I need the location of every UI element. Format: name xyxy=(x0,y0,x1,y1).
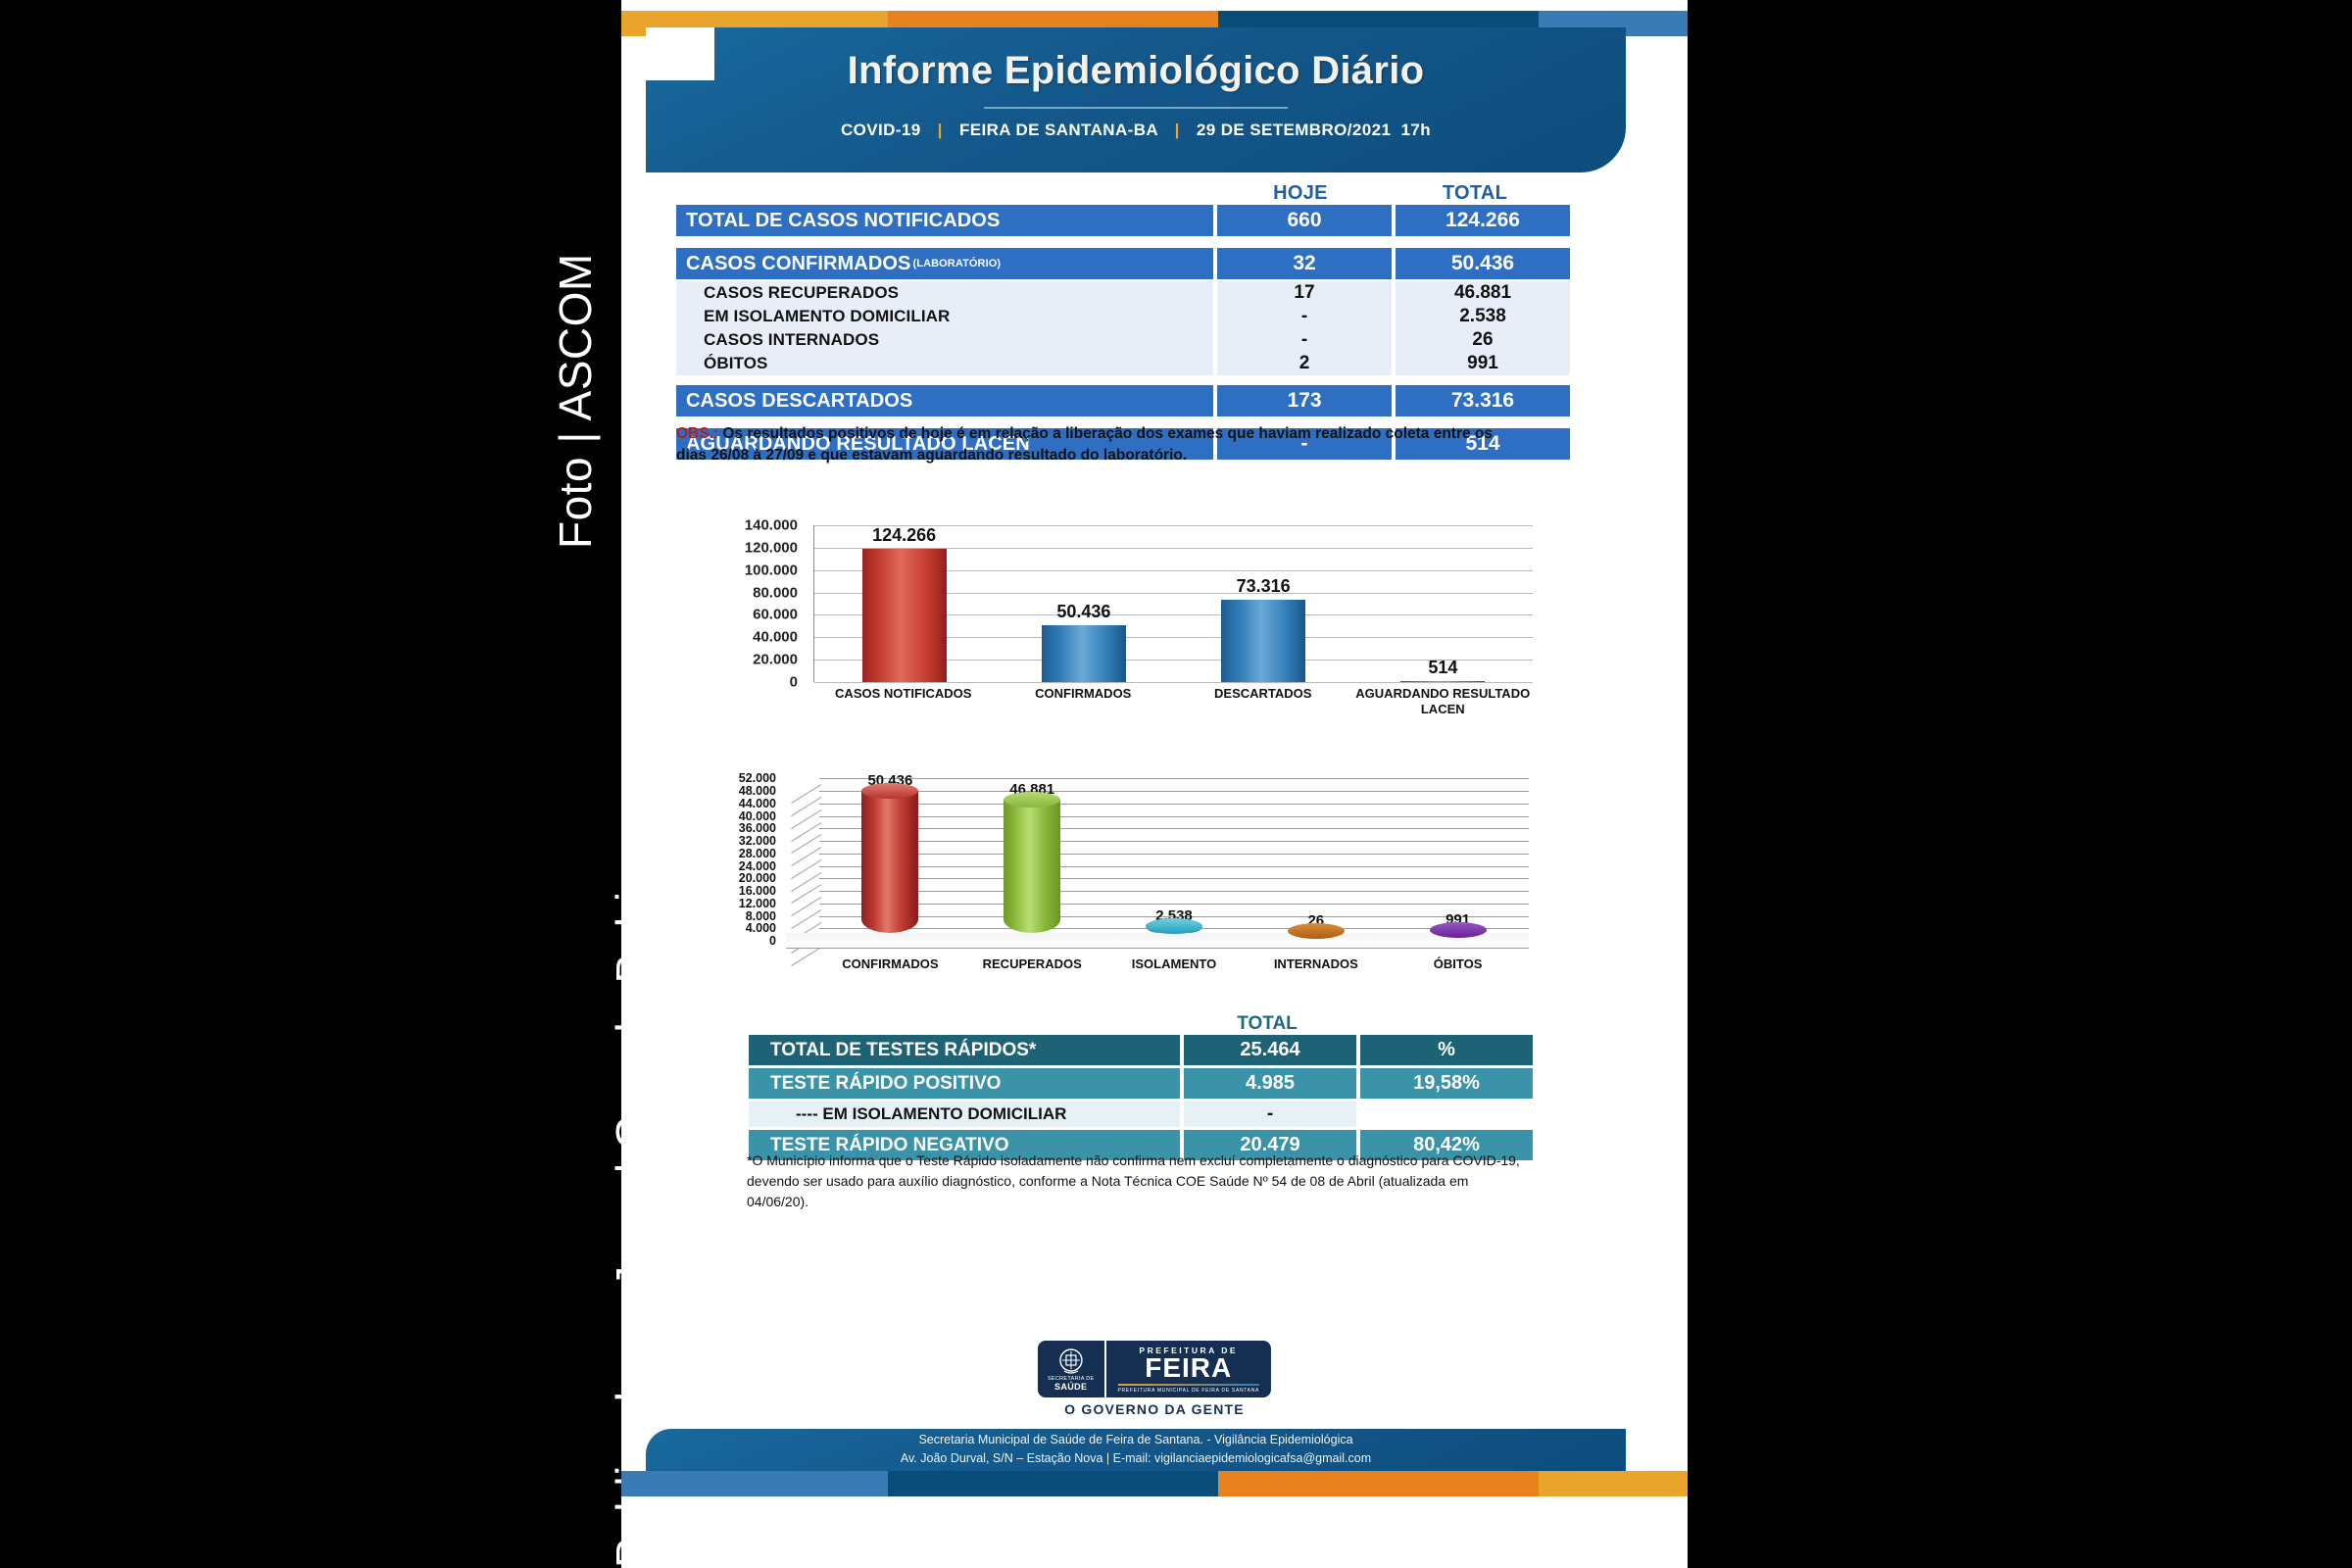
header-time: 17h xyxy=(1401,121,1432,139)
chart1-bar-column: 73.316 xyxy=(1174,525,1353,682)
chart2-y-tick: 0 xyxy=(769,934,776,948)
chart2-bar-column: 26 xyxy=(1245,772,1387,933)
report-header: Informe Epidemiológico Diário COVID-19 |… xyxy=(646,27,1626,172)
chart1-bars: 124.26650.43673.316514 xyxy=(814,525,1533,682)
chart2-bars: 50.43646.8812.53826991 xyxy=(819,772,1529,933)
chart2-y-tick: 52.000 xyxy=(739,771,776,785)
report-page: Informe Epidemiológico Diário COVID-19 |… xyxy=(621,0,1688,1568)
chart2-category-label: ISOLAMENTO xyxy=(1103,956,1246,971)
band-segment xyxy=(888,1471,1218,1496)
cylinder-body xyxy=(1004,800,1060,933)
cityhall-sub-label: PREFEITURA MUNICIPAL DE FEIRA DE SANTANA xyxy=(1117,1384,1259,1394)
chart1-y-tick: 80.000 xyxy=(753,584,798,601)
cylinder-cap xyxy=(861,783,918,799)
row-value-hoje: - xyxy=(1217,328,1392,352)
chart2-y-tick: 48.000 xyxy=(739,784,776,798)
chart2-y-tick: 36.000 xyxy=(739,821,776,835)
chart1-bar xyxy=(1221,600,1305,682)
row-value-hoje: - xyxy=(1217,305,1392,328)
secretariat-big-label: SAÚDE xyxy=(1054,1382,1088,1392)
chart2-bar-column: 46.881 xyxy=(961,772,1103,933)
chart2-plot-area: 50.43646.8812.53826991 xyxy=(786,772,1529,949)
chart1-y-tick: 20.000 xyxy=(753,652,798,668)
city-hall-logo: PREFEITURA DE FEIRA PREFEITURA MUNICIPAL… xyxy=(1105,1341,1271,1397)
chart2-cylinder xyxy=(1146,926,1202,933)
col-header-hoje: HOJE xyxy=(1213,182,1388,205)
row-value-total: 2.538 xyxy=(1396,305,1570,328)
band-segment xyxy=(621,1471,888,1496)
government-logo: SECRETARIA DE SAÚDE PREFEITURA DE FEIRA … xyxy=(1038,1341,1271,1417)
chart2-y-tick: 20.000 xyxy=(739,871,776,885)
row-value-total: 991 xyxy=(1396,352,1570,375)
logo-slogan: O GOVERNO DA GENTE xyxy=(1038,1401,1271,1417)
header-sep-2: | xyxy=(1175,121,1180,139)
chart2-y-tick: 40.000 xyxy=(739,809,776,823)
chart1-bar-column: 124.266 xyxy=(814,525,994,682)
row-value-total: 50.436 xyxy=(1396,248,1570,279)
chart2-y-tick: 8.000 xyxy=(746,909,776,923)
cylinder-cap xyxy=(1146,918,1202,934)
chart2-cylinder xyxy=(1430,930,1487,933)
row-value-total: 46.881 xyxy=(1396,281,1570,305)
chart2-category-label: INTERNADOS xyxy=(1245,956,1387,971)
row-label: CASOS CONFIRMADOS(LABORATÓRIO) xyxy=(676,248,1213,279)
cylinder-cap xyxy=(1430,922,1487,938)
main-summary-table: HOJE TOTAL TOTAL DE CASOS NOTIFICADOS660… xyxy=(676,179,1595,462)
chart1-y-axis: 020.00040.00060.00080.000100.000120.0001… xyxy=(696,525,806,682)
cylinder-cap xyxy=(1288,923,1345,939)
cylinder-body xyxy=(861,791,918,933)
chart1-category-label: DESCARTADOS xyxy=(1173,686,1353,718)
bottom-color-band xyxy=(621,1471,1688,1496)
page-title: Informe Epidemiológico Diário xyxy=(646,49,1626,93)
header-city: FEIRA DE SANTANA-BA xyxy=(959,121,1157,139)
rapid-test-label: ---- EM ISOLAMENTO DOMICILIAR xyxy=(749,1102,1180,1127)
cylinder-cap xyxy=(1004,792,1060,808)
chart1-category-label: CASOS NOTIFICADOS xyxy=(813,686,994,718)
rapid-tests-table: TOTAL TOTAL DE TESTES RÁPIDOS*25.464%TES… xyxy=(749,1009,1533,1163)
photo-credit-band: Foto | ASCOM Publicado no Jornal Grande … xyxy=(0,0,621,1568)
table-row: CASOS DESCARTADOS17373.316 xyxy=(676,385,1595,416)
chart2-y-tick: 44.000 xyxy=(739,797,776,810)
chart1-y-tick: 120.000 xyxy=(745,539,798,556)
credit-line-photo: Foto | ASCOM xyxy=(549,253,602,549)
chart2-x-labels: CONFIRMADOSRECUPERADOSISOLAMENTOINTERNAD… xyxy=(819,956,1529,971)
chart2-y-tick: 32.000 xyxy=(739,834,776,848)
observation-text: Os resultados positivos de hoje é em rel… xyxy=(676,425,1493,464)
row-label: CASOS DESCARTADOS xyxy=(676,385,1213,416)
chart1-category-label: AGUARDANDO RESULTADO LACEN xyxy=(1353,686,1534,718)
row-label: EM ISOLAMENTO DOMICILIAR xyxy=(676,305,1213,328)
chart1-category-label: CONFIRMADOS xyxy=(994,686,1174,718)
rapid-test-label: TOTAL DE TESTES RÁPIDOS* xyxy=(749,1035,1180,1065)
chart1-value-label: 514 xyxy=(1428,658,1457,678)
rapid-test-total: 25.464 xyxy=(1184,1035,1356,1065)
row-value-total: 73.316 xyxy=(1396,385,1570,416)
chart2-y-tick: 12.000 xyxy=(739,897,776,910)
table-row-spacer xyxy=(676,238,1595,248)
row-label: TOTAL DE CASOS NOTIFICADOS xyxy=(676,205,1213,236)
row-value-hoje: 2 xyxy=(1217,352,1392,375)
chart2-bar-column: 991 xyxy=(1387,772,1529,933)
chart1-plot-area: 124.26650.43673.316514 xyxy=(813,525,1533,682)
main-table-header: HOJE TOTAL xyxy=(676,179,1595,205)
chart1-value-label: 124.266 xyxy=(872,525,936,546)
chart2-y-tick: 4.000 xyxy=(746,921,776,935)
rapid-tests-footnote: *O Município informa que o Teste Rápido … xyxy=(747,1151,1521,1212)
chart1-value-label: 50.436 xyxy=(1056,602,1110,622)
chart-totals-bar: 020.00040.00060.00080.000100.000120.0001… xyxy=(696,514,1548,734)
chart1-bar-column: 514 xyxy=(1353,525,1533,682)
row-value-hoje: 17 xyxy=(1217,281,1392,305)
table-row: CASOS CONFIRMADOS(LABORATÓRIO)3250.436 xyxy=(676,248,1595,279)
header-disease: COVID-19 xyxy=(841,121,921,139)
chart1-y-tick: 140.000 xyxy=(745,517,798,534)
row-label: ÓBITOS xyxy=(676,352,1213,375)
chart2-bar-column: 50.436 xyxy=(819,772,961,933)
table-row-spacer xyxy=(676,375,1595,385)
chart2-cylinder xyxy=(1288,931,1345,933)
band-segment xyxy=(1539,1471,1688,1496)
chart1-bar xyxy=(862,549,947,682)
col-header-total: TOTAL xyxy=(1388,182,1562,205)
chart2-floor xyxy=(786,933,1529,949)
table-row: TOTAL DE CASOS NOTIFICADOS660124.266 xyxy=(676,205,1595,236)
header-subtitle: COVID-19 | FEIRA DE SANTANA-BA | 29 DE S… xyxy=(646,121,1626,140)
row-label: CASOS INTERNADOS xyxy=(676,328,1213,352)
chart2-category-label: RECUPERADOS xyxy=(961,956,1103,971)
rt-col-header-total: TOTAL xyxy=(1180,1013,1354,1035)
header-divider xyxy=(984,107,1288,109)
chart2-y-axis: 04.0008.00012.00016.00020.00024.00028.00… xyxy=(696,772,780,949)
chart2-y-tick: 16.000 xyxy=(739,884,776,898)
chart1-y-tick: 60.000 xyxy=(753,607,798,623)
rapid-test-row: TESTE RÁPIDO POSITIVO4.98519,58% xyxy=(749,1068,1533,1099)
table-row: EM ISOLAMENTO DOMICILIAR-2.538 xyxy=(676,305,1595,328)
header-date: 29 DE SETEMBRO/2021 xyxy=(1197,121,1391,139)
chart2-cylinder xyxy=(1004,800,1060,933)
chart1-x-labels: CASOS NOTIFICADOSCONFIRMADOSDESCARTADOSA… xyxy=(813,686,1533,718)
chart1-bar xyxy=(1042,625,1126,682)
row-value-hoje: 660 xyxy=(1217,205,1392,236)
rapid-test-row: TOTAL DE TESTES RÁPIDOS*25.464% xyxy=(749,1035,1533,1065)
rapid-test-total: - xyxy=(1184,1102,1356,1127)
chart1-bar-column: 50.436 xyxy=(994,525,1173,682)
row-value-total: 124.266 xyxy=(1396,205,1570,236)
row-value-total: 26 xyxy=(1396,328,1570,352)
chart2-depth-line xyxy=(791,784,821,804)
chart2-y-tick: 24.000 xyxy=(739,859,776,873)
health-secretariat-logo: SECRETARIA DE SAÚDE xyxy=(1038,1341,1106,1397)
table-row: CASOS INTERNADOS-26 xyxy=(676,328,1595,352)
chart2-category-label: ÓBITOS xyxy=(1387,956,1529,971)
chart1-y-tick: 100.000 xyxy=(745,562,798,578)
footer-line-2: Av. João Durval, S/N – Estação Nova | E-… xyxy=(901,1449,1371,1468)
chart1-y-tick: 40.000 xyxy=(753,629,798,646)
chart2-bar-column: 2.538 xyxy=(1103,772,1246,933)
observation-label: OBS.: xyxy=(676,425,718,442)
row-value-hoje: 32 xyxy=(1217,248,1392,279)
chart1-value-label: 73.316 xyxy=(1237,576,1291,597)
rapid-test-row: ---- EM ISOLAMENTO DOMICILIAR- xyxy=(749,1102,1533,1127)
table-row: ÓBITOS2991 xyxy=(676,352,1595,375)
chart1-bar xyxy=(1400,681,1485,682)
row-value-hoje: 173 xyxy=(1217,385,1392,416)
chart2-category-label: CONFIRMADOS xyxy=(819,956,961,971)
screenshot-root: Foto | ASCOM Publicado no Jornal Grande … xyxy=(0,0,2352,1568)
band-segment xyxy=(1218,1471,1538,1496)
chart-breakdown-cylinder: 04.0008.00012.00016.00020.00024.00028.00… xyxy=(696,764,1548,985)
row-label-note: (LABORATÓRIO) xyxy=(912,258,1001,269)
chart2-y-tick: 28.000 xyxy=(739,847,776,860)
city-crest-icon xyxy=(1058,1347,1084,1375)
header-sep-1: | xyxy=(938,121,943,139)
observation-note: OBS.: Os resultados positivos de hoje é … xyxy=(676,423,1519,467)
chart2-cylinder xyxy=(861,791,918,933)
rapid-test-label: TESTE RÁPIDO POSITIVO xyxy=(749,1068,1180,1099)
rapid-test-pct: % xyxy=(1360,1035,1533,1065)
rapid-test-pct xyxy=(1360,1102,1533,1127)
rapid-test-pct: 19,58% xyxy=(1360,1068,1533,1099)
cityhall-big-label: FEIRA xyxy=(1117,1355,1259,1382)
table-row: CASOS RECUPERADOS1746.881 xyxy=(676,281,1595,305)
chart1-y-tick: 0 xyxy=(790,674,798,691)
chart1-gridline xyxy=(814,682,1533,683)
footer-line-1: Secretaria Municipal de Saúde de Feira d… xyxy=(918,1431,1352,1449)
rapid-test-total: 4.985 xyxy=(1184,1068,1356,1099)
rapid-tests-header: TOTAL xyxy=(749,1009,1533,1035)
row-label: CASOS RECUPERADOS xyxy=(676,281,1213,305)
